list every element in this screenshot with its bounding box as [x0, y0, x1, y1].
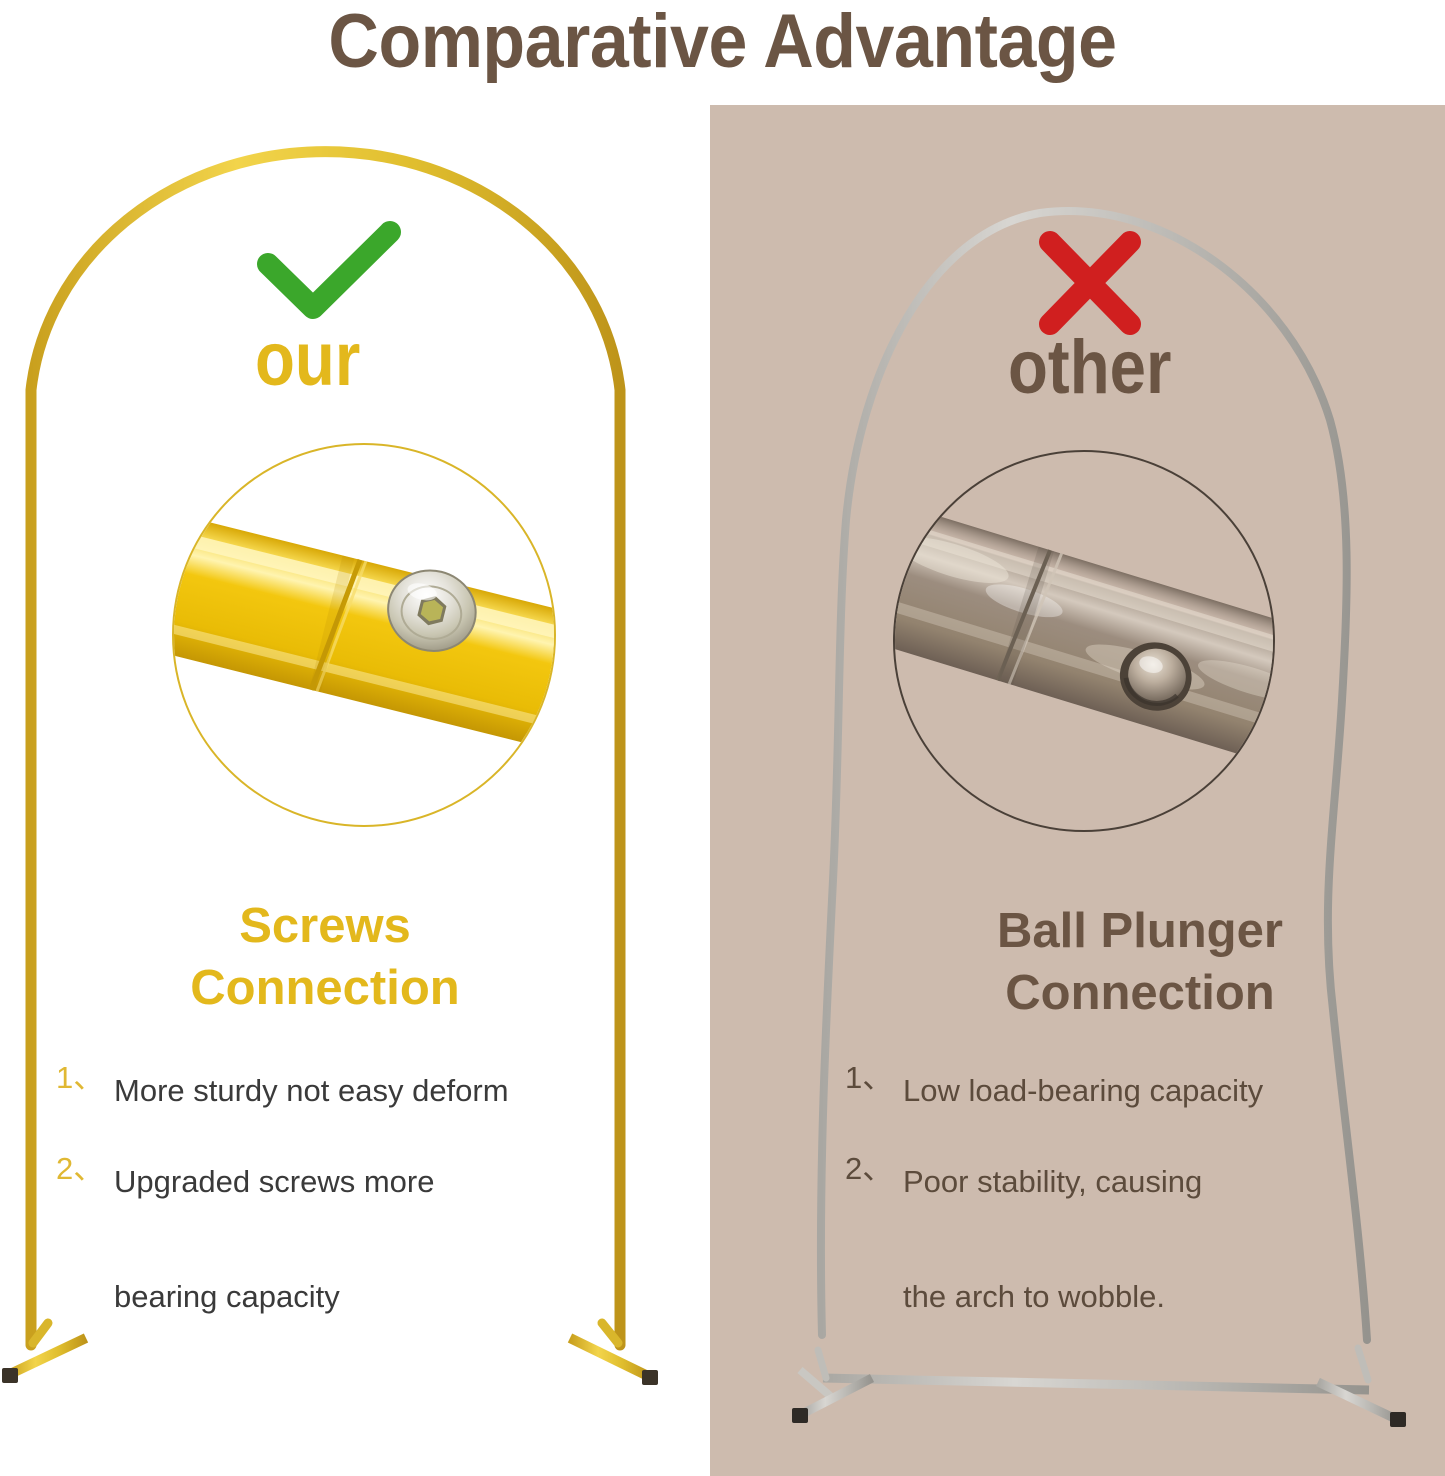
bullet-number: 1、	[845, 1062, 903, 1093]
bullet-number: 2、	[56, 1153, 114, 1184]
right-bullet-list: 1、 Low load-bearing capacity 2、 Poor sta…	[845, 1062, 1425, 1359]
bullet-number: 2、	[845, 1153, 903, 1184]
page-title: Comparative Advantage	[58, 2, 1387, 82]
bullet-text: Poor stability, causing the arch to wobb…	[903, 1153, 1425, 1325]
bullet-text: Low load-bearing capacity	[903, 1062, 1425, 1119]
bullet-number: 1、	[56, 1062, 114, 1093]
left-section-heading: Screws Connection	[30, 895, 620, 1019]
our-label: our	[255, 322, 360, 398]
other-label: other	[1008, 330, 1171, 406]
bullet-text: Upgraded screws more bearing capacity	[114, 1153, 656, 1325]
green-check-icon	[250, 220, 410, 330]
left-bullet-list: 1、 More sturdy not easy deform 2、 Upgrad…	[56, 1062, 656, 1359]
list-item: 2、 Poor stability, causing the arch to w…	[845, 1153, 1425, 1325]
grey-pipe-ball-plunger-illustration	[895, 452, 1273, 830]
list-item: 1、 Low load-bearing capacity	[845, 1062, 1425, 1119]
list-item: 1、 More sturdy not easy deform	[56, 1062, 656, 1119]
comparison-infographic: Comparative Advantage	[0, 0, 1445, 1476]
screw-connection-photo	[172, 443, 556, 827]
yellow-pipe-screw-illustration	[174, 445, 554, 825]
bullet-text: More sturdy not easy deform	[114, 1062, 656, 1119]
ball-plunger-connection-photo	[893, 450, 1275, 832]
right-section-heading: Ball Plunger Connection	[860, 900, 1420, 1024]
red-cross-icon	[1020, 228, 1180, 338]
list-item: 2、 Upgraded screws more bearing capacity	[56, 1153, 656, 1325]
